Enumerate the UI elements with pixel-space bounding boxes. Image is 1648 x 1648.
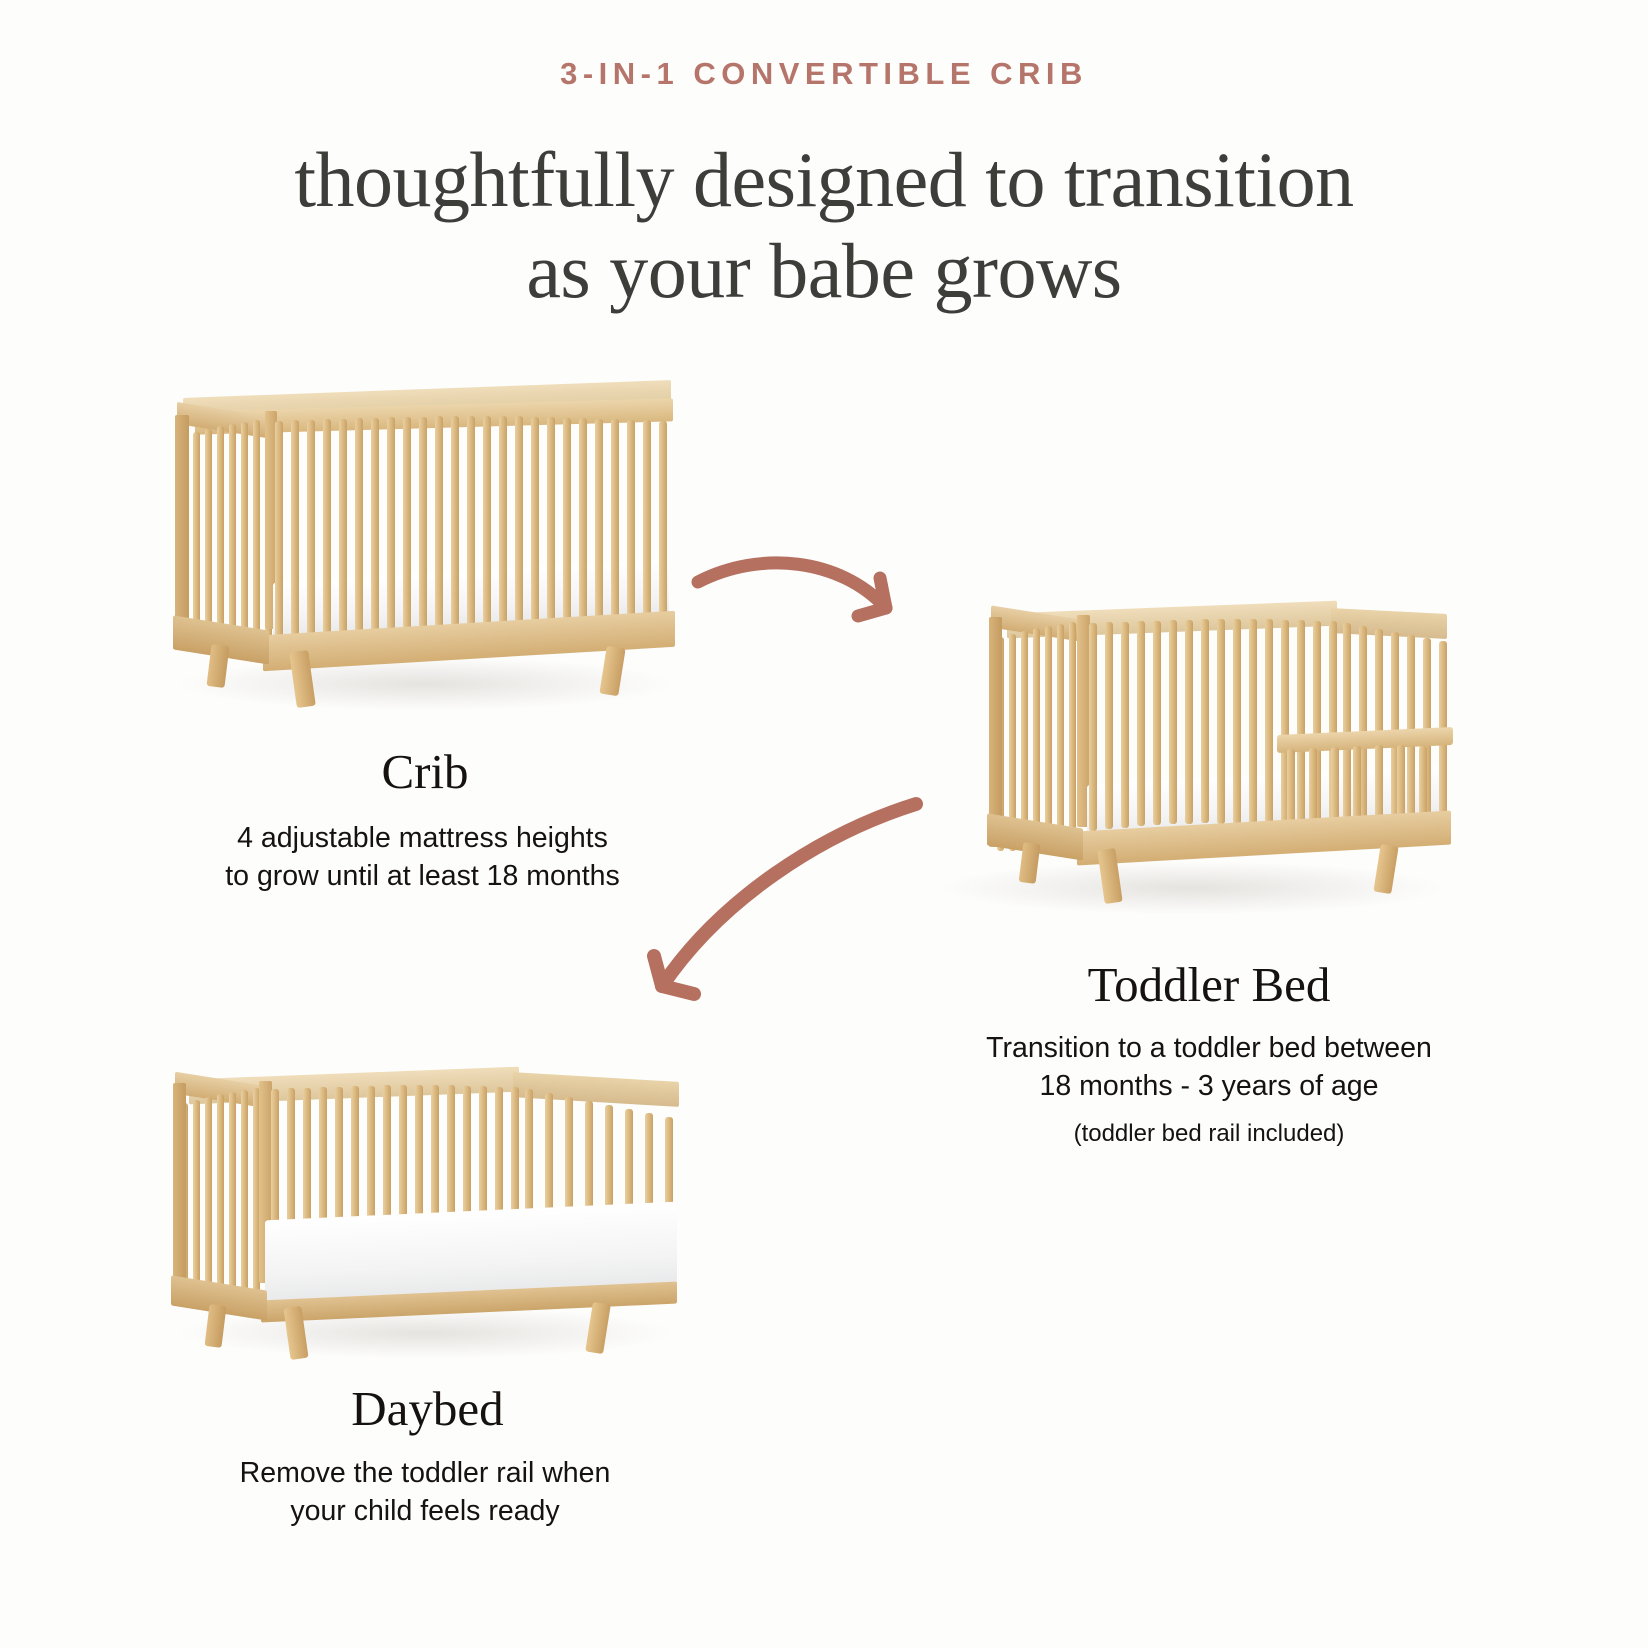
crib-front-slat — [467, 416, 475, 628]
daybed-caption: Remove the toddler rail when your child … — [145, 1455, 705, 1531]
crib-front-slat — [547, 417, 555, 631]
crib-leg-right — [599, 646, 625, 696]
toddler-bed-back-slat — [1217, 619, 1225, 824]
toddler-bed-title: Toddler Bed — [925, 958, 1493, 1012]
toddler-bed-back-slat — [1233, 619, 1241, 824]
crib-front-slat — [515, 416, 523, 629]
crib-front-slat — [435, 416, 443, 629]
daybed-leg-right — [585, 1302, 611, 1354]
toddler-bed-back-slat — [1185, 620, 1193, 824]
daybed-left-slat — [193, 1100, 200, 1307]
crib-left-corner-post — [175, 415, 189, 647]
crib-front-slat — [339, 419, 347, 637]
daybed-left-slat — [205, 1097, 212, 1307]
toddler-bed-guard-slat — [1331, 747, 1339, 827]
crib-front-slat — [355, 418, 363, 635]
toddler-bed-back-slat — [1249, 619, 1257, 825]
toddler-bed-caption-line-2: 18 months - 3 years of age — [905, 1068, 1513, 1106]
toddler-bed-leg-right — [1373, 844, 1398, 894]
daybed-caption-line-2: your child feels ready — [145, 1493, 705, 1531]
toddler-bed-caption: Transition to a toddler bed between 18 m… — [905, 1030, 1513, 1106]
crib-front-slat — [291, 420, 299, 641]
crib-leg-front-left — [207, 644, 230, 688]
toddler-bed-caption-line-1: Transition to a toddler bed between — [905, 1030, 1513, 1068]
toddler-bed-guard-slat — [1287, 749, 1295, 827]
toddler-bed-back-slat — [1137, 621, 1145, 826]
crib-front-slat — [403, 417, 411, 631]
toddler-bed-image — [925, 565, 1455, 910]
toddler-bed-left-slat — [1033, 628, 1040, 851]
headline-line-1: thoughtfully designed to transition — [294, 136, 1353, 223]
crib-left-slat — [205, 429, 212, 650]
toddler-bed-back-slat — [1153, 621, 1161, 825]
crib-left-slat — [217, 426, 224, 650]
crib-front-slat — [483, 416, 491, 628]
crib-caption-line-2: to grow until at least 18 months — [150, 858, 695, 896]
crib-caption: 4 adjustable mattress heights to grow un… — [150, 820, 695, 896]
crib-front-slat — [627, 420, 635, 639]
toddler-bed-back-slat — [1201, 619, 1209, 823]
crib-title: Crib — [160, 745, 690, 799]
crib-left-slat — [241, 422, 248, 650]
eyebrow-label: 3-IN-1 CONVERTIBLE CRIB — [0, 56, 1648, 92]
crib-front-slat — [275, 421, 283, 643]
daybed-left-slat — [229, 1092, 236, 1307]
crib-front-slat — [371, 418, 379, 634]
daybed-caption-line-1: Remove the toddler rail when — [145, 1455, 705, 1493]
toddler-bed-leg-left — [1019, 842, 1041, 884]
crib-left-slat — [229, 424, 236, 650]
daybed-leg-left — [205, 1304, 227, 1348]
daybed-title: Daybed — [155, 1382, 700, 1436]
toddler-bed-left-corner-post — [989, 617, 1002, 847]
crib-front-slat — [451, 416, 459, 628]
toddler-bed-left-slat — [1057, 624, 1064, 851]
toddler-bed-back-slat — [1089, 623, 1097, 831]
crib-front-slat — [307, 420, 315, 640]
crib-front-slat — [563, 418, 571, 633]
toddler-bed-left-slat — [1045, 626, 1052, 851]
daybed-left-slat — [217, 1094, 224, 1307]
toddler-bed-back-slat — [1265, 619, 1273, 826]
crib-front-slat — [419, 417, 427, 630]
crib-front-slat — [531, 417, 539, 630]
headline-line-2: as your babe grows — [0, 225, 1648, 316]
toddler-bed-left-slat — [1069, 622, 1076, 851]
crib-front-slat — [387, 417, 395, 632]
toddler-bed-guard-slat — [1309, 748, 1317, 827]
crib-left-slat — [193, 432, 200, 650]
toddler-bed-back-slat — [1105, 622, 1113, 829]
daybed-left-corner-post — [173, 1083, 186, 1305]
crib-front-slat — [595, 419, 603, 636]
crib-front-slat — [611, 419, 619, 637]
arrow-crib-to-toddler-bed — [690, 520, 930, 640]
crib-front-slat-group — [273, 415, 673, 643]
crib-front-slat — [579, 418, 587, 634]
crib-front-slat — [643, 420, 651, 640]
toddler-bed-note: (toddler bed rail included) — [905, 1118, 1513, 1149]
toddler-bed-back-slat — [1169, 620, 1177, 824]
daybed-left-slat-group — [179, 1091, 269, 1309]
page-title: thoughtfully designed to transition as y… — [0, 134, 1648, 317]
crib-image — [165, 375, 685, 705]
toddler-bed-shadow — [935, 861, 1445, 915]
crib-front-slat — [499, 416, 507, 628]
infographic-page: 3-IN-1 CONVERTIBLE CRIB thoughtfully des… — [0, 0, 1648, 1648]
crib-front-slat — [323, 419, 331, 638]
daybed-left-slat — [241, 1090, 248, 1307]
daybed-image — [165, 1015, 685, 1355]
crib-caption-line-1: 4 adjustable mattress heights — [150, 820, 695, 858]
crib-front-slat — [659, 421, 667, 642]
toddler-bed-back-slat — [1121, 622, 1129, 828]
crib-left-slat — [253, 420, 260, 650]
